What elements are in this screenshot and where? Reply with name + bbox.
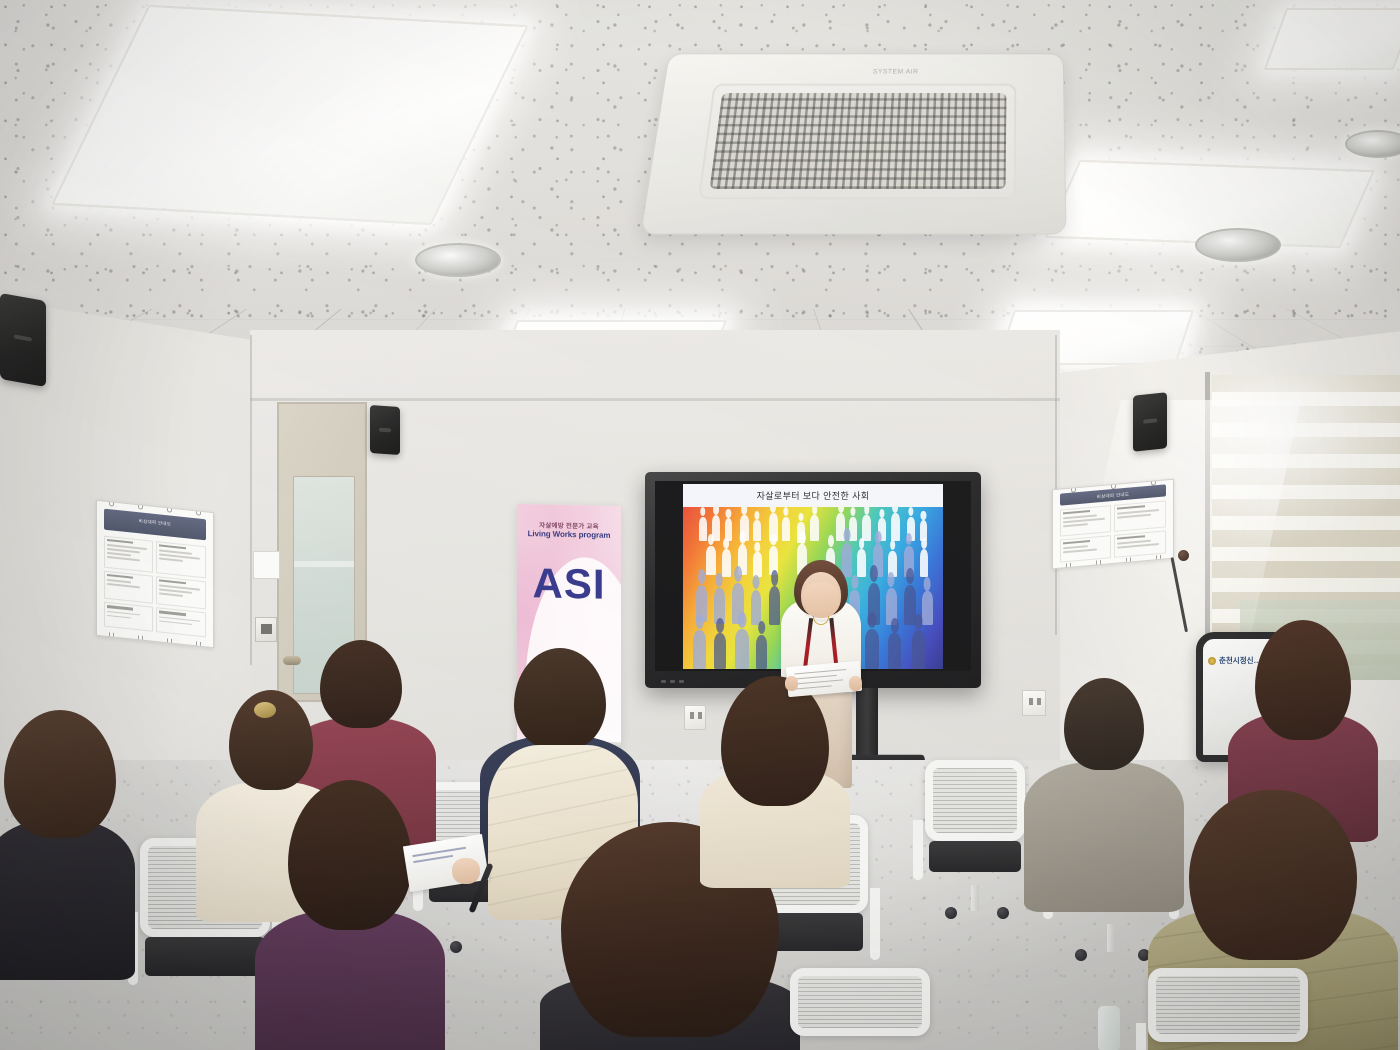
wall-speaker-icon [370, 405, 400, 455]
led-panel-light [1264, 8, 1400, 70]
chair-post [971, 885, 979, 911]
poster-cell [104, 535, 154, 573]
banner-acronym: ASI [517, 562, 621, 605]
ceiling-cassette-ac-unit: SYSTEM AIR [640, 53, 1066, 234]
audience-member [700, 676, 850, 856]
audience-hand [452, 858, 480, 884]
chair-seat [145, 937, 265, 975]
presenter-hand [785, 676, 798, 691]
recessed-downlight [415, 243, 501, 277]
ac-grille-icon [710, 93, 1007, 189]
chair-back [790, 968, 930, 1036]
chair-seat [929, 841, 1021, 872]
wall-control-panel[interactable] [255, 617, 277, 642]
wall-poster-right: 비상대피 안내도 [1052, 479, 1174, 570]
audience-head [4, 710, 116, 838]
audience-body [255, 910, 445, 1050]
presenter-hand [849, 676, 862, 691]
poster-cell [104, 570, 154, 604]
wall-seam [1055, 335, 1057, 635]
door-glass-band [294, 561, 354, 567]
hair-clip-icon [254, 702, 276, 718]
seminar-room-photo: SYSTEM AIR 비상대피 안내도 [0, 0, 1400, 1050]
chair[interactable] [1148, 968, 1308, 1050]
chair-caster [945, 907, 957, 919]
wall-speaker-icon [0, 293, 46, 387]
ac-grille-frame [698, 84, 1016, 199]
wall-trim-line [250, 398, 1060, 401]
water-bottle[interactable] [1098, 1006, 1120, 1050]
chair[interactable] [925, 760, 1025, 890]
chair-post [1107, 924, 1116, 952]
control-panel-screen [261, 624, 272, 634]
poster-cell [156, 607, 206, 637]
door-notice-paper [253, 551, 280, 579]
poster-body [1060, 500, 1166, 562]
chair-caster [450, 941, 462, 953]
audience-head [288, 780, 412, 930]
chair-arm [870, 888, 880, 961]
recessed-downlight [1195, 228, 1281, 262]
chair-back [925, 760, 1025, 841]
display-control-buttons[interactable] [661, 680, 684, 683]
slide-title: 자살로부터 보다 안전한 사회 [683, 489, 943, 502]
audience-head [1064, 678, 1144, 770]
chair-caster [997, 907, 1009, 919]
audience-head [1189, 790, 1357, 960]
presenter-face [803, 582, 839, 614]
poster-cell [156, 576, 206, 610]
audience-head [721, 676, 829, 806]
chair-back [1148, 968, 1308, 1042]
organization-seal-icon [1208, 657, 1216, 665]
poster-cell [1114, 500, 1165, 532]
audience-body [0, 820, 135, 980]
chair-arm [913, 820, 923, 880]
wall-poster-left: 비상대피 안내도 [96, 500, 214, 648]
audience-member [0, 710, 135, 950]
audience-head [1255, 620, 1351, 740]
chair[interactable] [790, 968, 930, 1050]
microphone-head-icon [1178, 550, 1189, 561]
poster-cell [104, 602, 154, 632]
chair-caster [1075, 949, 1087, 961]
poster-cell [1060, 505, 1111, 537]
poster-header-text: 비상대피 안내도 [104, 515, 206, 532]
wall-speaker-icon [1133, 392, 1167, 452]
poster-body [104, 535, 206, 637]
audience-member [255, 780, 445, 1050]
poster-cell [156, 541, 206, 579]
ac-brand-label: SYSTEM AIR [873, 69, 919, 75]
chair-arm [1136, 1023, 1146, 1050]
wall-seam [250, 335, 252, 665]
